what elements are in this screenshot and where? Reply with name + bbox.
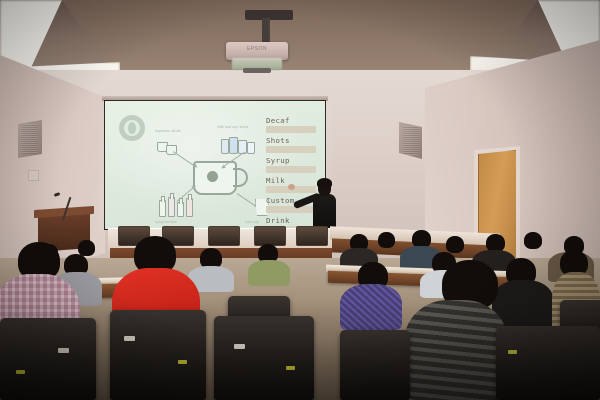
projector-foot [243, 68, 271, 73]
wall-speaker-right [399, 122, 422, 159]
slide-option-drink: Drink [266, 217, 316, 224]
chair-back[interactable] [0, 318, 96, 400]
projector-ceiling-mount [245, 10, 293, 20]
attendee-head [378, 232, 395, 248]
chair-sticker [286, 366, 295, 370]
syrup-bottles-icon [157, 197, 197, 217]
chair-back[interactable] [496, 326, 600, 400]
slide-option-list: Decaf Shots Syrup Milk Custom Drink [266, 117, 316, 229]
mug-logo-dot [207, 171, 218, 182]
slide-option-decaf: Decaf [266, 117, 316, 124]
lecture-hall-photo: EPSON espresso shots milk and cup sizes [0, 0, 600, 400]
chair-sticker [508, 350, 517, 354]
attendee-striped-front [404, 300, 508, 400]
wall-outlet-plate[interactable] [28, 170, 39, 181]
projection-screen: espresso shots milk and cup sizes syrup … [105, 101, 325, 229]
chair-sticker [178, 360, 187, 364]
slide-option-syrup: Syrup [266, 157, 316, 164]
illustration-caption-1: espresso shots [155, 129, 181, 134]
chair-back[interactable] [214, 316, 314, 400]
front-chair-5 [296, 226, 328, 246]
slide-option-bar-shots [266, 146, 316, 153]
illustration-caption-4: iced cup [245, 220, 259, 225]
chair-label [58, 348, 69, 353]
wall-speaker-left [18, 120, 42, 158]
attendee-head [524, 232, 542, 249]
chair-label [124, 336, 135, 341]
slide-option-bar-custom [266, 206, 316, 213]
chair-sticker [16, 370, 25, 374]
illustration-caption-2: milk and cup sizes [217, 125, 248, 130]
presenter-hair [317, 178, 332, 188]
slide-option-shots: Shots [266, 137, 316, 144]
attendee-head [78, 240, 95, 256]
attendee-torso [248, 260, 290, 286]
slide-option-bar-syrup [266, 166, 316, 173]
chair-back[interactable] [340, 330, 410, 400]
chair-label [234, 344, 245, 349]
projector-brand-label: EPSON [226, 46, 288, 52]
slide-option-bar-decaf [266, 126, 316, 133]
starbucks-siren-logo [119, 115, 145, 141]
attendee-head [446, 236, 464, 253]
slide-option-milk: Milk [266, 177, 316, 184]
attendee-purple-pattern [340, 284, 402, 330]
presenter-hand [288, 184, 295, 190]
front-chair-3 [208, 226, 240, 246]
illustration-caption-3: syrup bottles [155, 220, 177, 225]
front-chair-4 [254, 226, 286, 246]
projector-arm [262, 18, 268, 44]
chair-back[interactable] [110, 310, 206, 400]
ceiling-recess [62, 0, 538, 78]
